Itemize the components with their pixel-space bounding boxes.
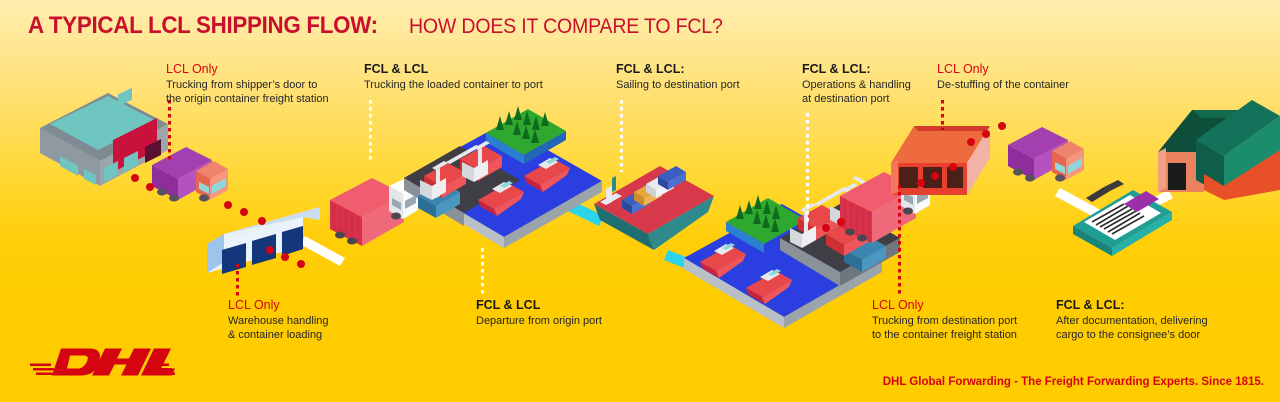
step-6-body: Operations & handling at destination por… [802,79,932,106]
step-3-body: Trucking the loaded container to port [364,79,604,93]
step-7-body: De-stuffing of the container [937,79,1137,93]
step-1-body: Trucking from shipper’s door to the orig… [166,79,366,106]
step-6-heading: FCL & LCL: [802,62,932,77]
step-label-8: LCL Only Trucking from destination port … [872,298,1052,342]
step-2-body: Warehouse handling & container loading [228,315,408,342]
step-label-4: FCL & LCL Departure from origin port [476,298,676,329]
step-4-heading: FCL & LCL [476,298,676,313]
step-7-heading: LCL Only [937,62,1137,77]
step-8-heading: LCL Only [872,298,1052,313]
step-label-6: FCL & LCL: Operations & handling at dest… [802,62,932,106]
step-label-2: LCL Only Warehouse handling & container … [228,298,408,342]
step-label-9: FCL & LCL: After documentation, deliveri… [1056,298,1236,342]
step-2-heading: LCL Only [228,298,408,313]
step-label-3: FCL & LCL Trucking the loaded container … [364,62,604,93]
footer-tagline: DHL Global Forwarding - The Freight Forw… [883,376,1264,388]
step-1-heading: LCL Only [166,62,366,77]
step-4-body: Departure from origin port [476,315,676,329]
dhl-logo [30,340,175,380]
step-5-body: Sailing to destination port [616,79,806,93]
step-8-body: Trucking from destination port to the co… [872,315,1052,342]
step-3-heading: FCL & LCL [364,62,604,77]
step-label-5: FCL & LCL: Sailing to destination port [616,62,806,93]
step-9-heading: FCL & LCL: [1056,298,1236,313]
step-5-heading: FCL & LCL: [616,62,806,77]
step-label-7: LCL Only De-stuffing of the container [937,62,1137,93]
infographic-canvas: A TYPICAL LCL SHIPPING FLOW:HOW DOES IT … [0,0,1280,402]
step-9-body: After documentation, delivering cargo to… [1056,315,1236,342]
step-label-1: LCL Only Trucking from shipper’s door to… [166,62,366,106]
